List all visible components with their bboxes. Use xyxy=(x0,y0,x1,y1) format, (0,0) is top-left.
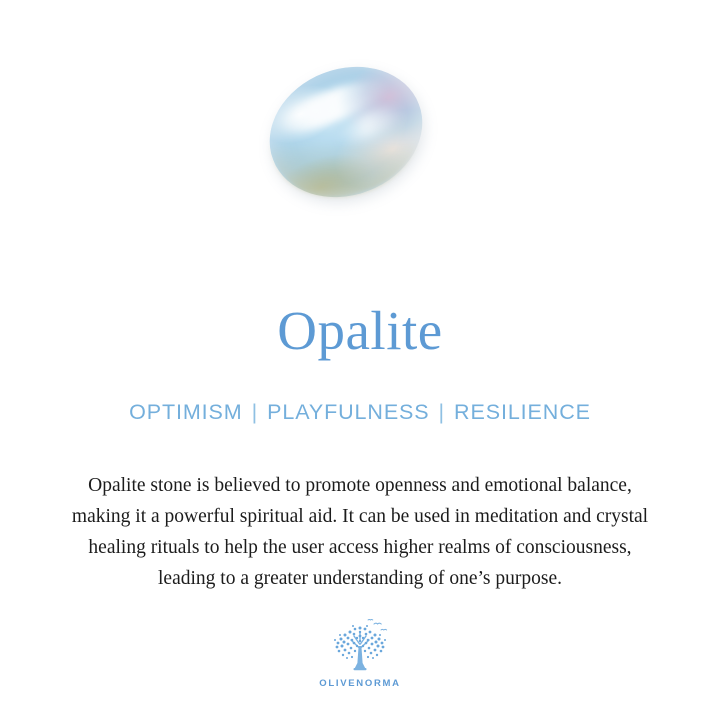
keyword-list: OPTIMISM|PLAYFULNESS|RESILIENCE xyxy=(0,398,720,426)
keyword-optimism: OPTIMISM xyxy=(129,400,243,424)
description-line: leading to a greater understanding of on… xyxy=(28,563,692,594)
description-paragraph: Opalite stone is believed to promote ope… xyxy=(28,470,692,594)
stone-image-area xyxy=(0,55,720,220)
brand-name: OLIVENORMA xyxy=(319,678,400,689)
keyword-separator: | xyxy=(243,398,268,426)
keyword-separator: | xyxy=(430,398,455,426)
description-line: Opalite stone is believed to promote ope… xyxy=(28,470,692,501)
opalite-stone-image xyxy=(251,45,442,219)
keyword-playfulness: PLAYFULNESS xyxy=(267,400,429,424)
description-line: healing rituals to help the user access … xyxy=(28,532,692,563)
product-info-card: Opalite OPTIMISM|PLAYFULNESS|RESILIENCE … xyxy=(0,0,720,720)
description-line: making it a powerful spiritual aid. It c… xyxy=(28,501,692,532)
page-title: Opalite xyxy=(0,300,720,362)
brand-logo: OLIVENORMA xyxy=(0,616,720,689)
tree-icon xyxy=(324,616,396,676)
keyword-resilience: RESILIENCE xyxy=(454,400,591,424)
